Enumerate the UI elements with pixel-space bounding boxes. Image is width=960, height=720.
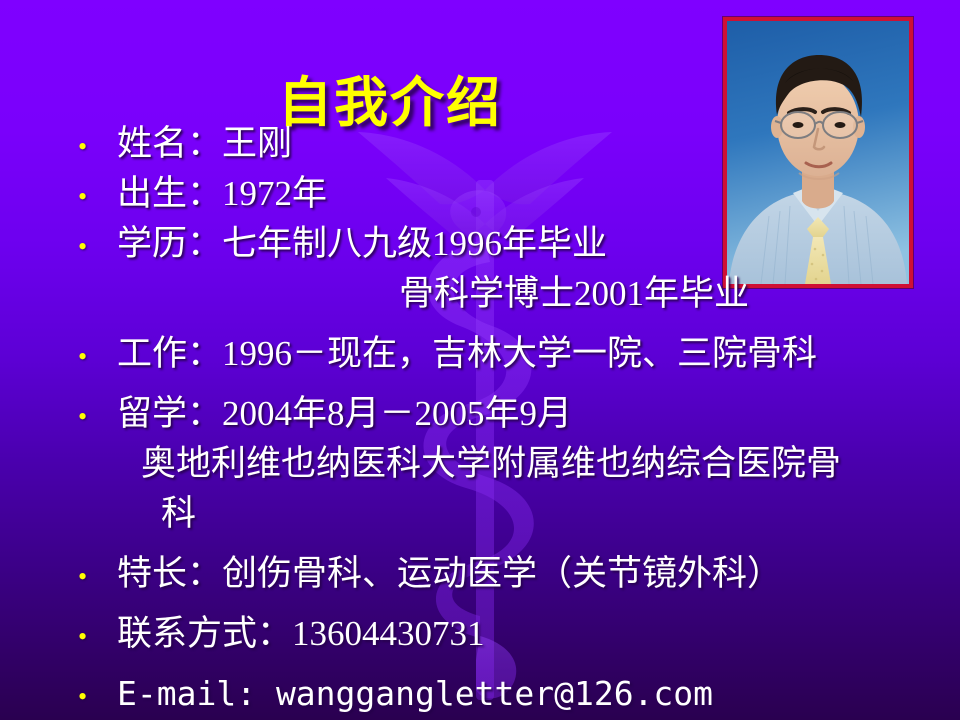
list-item-label: 工作：1996－现在，吉林大学一院、三院骨科	[117, 330, 817, 377]
list-item: 姓名：王刚	[78, 120, 938, 170]
list-item-label: 科	[161, 490, 196, 537]
bullet-icon	[78, 673, 117, 720]
bullet-icon	[78, 223, 117, 270]
spacer	[78, 320, 938, 330]
bullet-list: 姓名：王刚 出生：1972年 学历：七年制八九级1996年毕业 骨科学博士200…	[78, 120, 938, 720]
list-item-label: 骨科学博士2001年毕业	[399, 270, 749, 317]
list-item-label: 奥地利维也纳医科大学附属维也纳综合医院骨	[141, 440, 841, 487]
list-item-label: 出生：1972年	[117, 170, 327, 217]
spacer	[78, 660, 938, 670]
email-address: E-mail: wanggangletter@126.com	[117, 670, 713, 717]
bullet-icon	[78, 173, 117, 220]
list-item-continuation: 骨科学博士2001年毕业	[78, 270, 938, 320]
bullet-icon	[78, 393, 117, 440]
spacer	[78, 600, 938, 610]
list-item-label: 联系方式：13604430731	[117, 610, 485, 657]
list-item-label: 特长：创伤骨科、运动医学（关节镜外科）	[117, 550, 782, 597]
bullet-icon	[78, 123, 117, 170]
list-item-continuation: 奥地利维也纳医科大学附属维也纳综合医院骨	[78, 440, 938, 490]
list-item-continuation: 科	[78, 490, 938, 540]
bullet-icon	[78, 553, 117, 600]
list-item: 留学：2004年8月－2005年9月	[78, 390, 938, 440]
list-item-label: 姓名：王刚	[117, 120, 292, 167]
list-item-label: 留学：2004年8月－2005年9月	[117, 390, 572, 437]
bullet-icon	[78, 333, 117, 380]
list-item-label: 学历：七年制八九级1996年毕业	[117, 220, 607, 267]
spacer	[78, 380, 938, 390]
list-item: 联系方式：13604430731	[78, 610, 938, 660]
list-item: 出生：1972年	[78, 170, 938, 220]
list-item: 学历：七年制八九级1996年毕业	[78, 220, 938, 270]
presentation-slide: 自我介绍	[0, 0, 960, 720]
list-item: E-mail: wanggangletter@126.com	[78, 670, 938, 720]
spacer	[78, 540, 938, 550]
list-item: 特长：创伤骨科、运动医学（关节镜外科）	[78, 550, 938, 600]
list-item: 工作：1996－现在，吉林大学一院、三院骨科	[78, 330, 938, 380]
bullet-icon	[78, 613, 117, 660]
